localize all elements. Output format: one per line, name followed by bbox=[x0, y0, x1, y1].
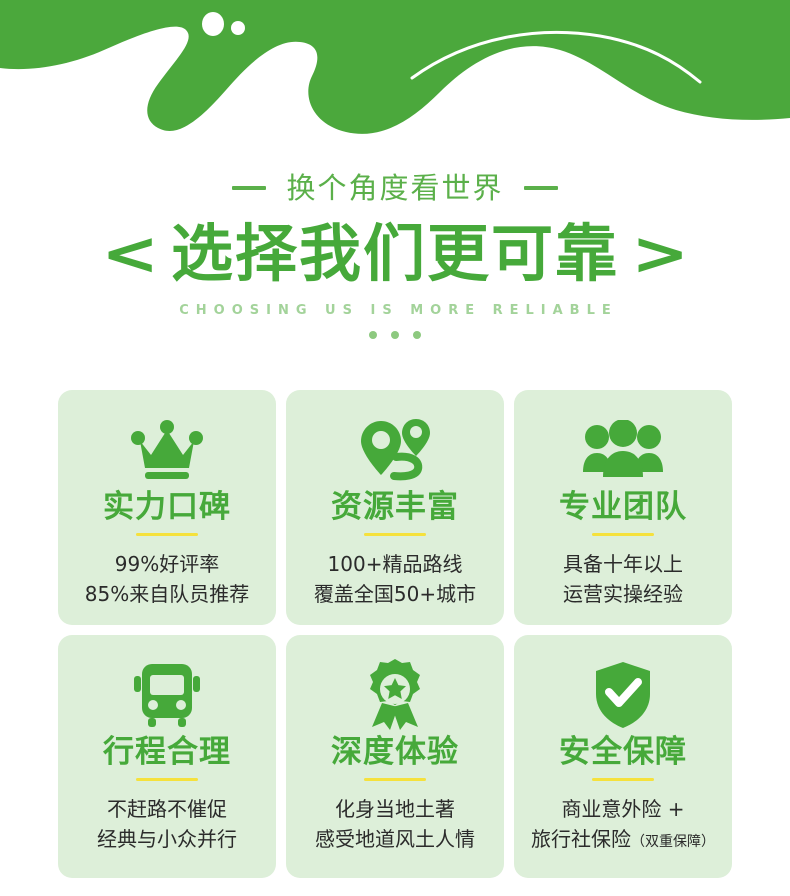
main-title-row: < 选择我们更可靠 > bbox=[0, 216, 790, 292]
left-bracket-icon: < bbox=[101, 224, 159, 284]
card-body-line: 化身当地土著 bbox=[315, 794, 475, 824]
bus-icon bbox=[132, 657, 202, 733]
card-body-line: 具备十年以上 bbox=[563, 549, 683, 579]
card-body-line: 不赶路不催促 bbox=[97, 794, 237, 824]
page-title: 选择我们更可靠 bbox=[171, 223, 619, 285]
people-group-icon bbox=[581, 412, 665, 488]
title-underline bbox=[364, 533, 426, 536]
dot-icon bbox=[369, 331, 377, 339]
card-body: 100+精品路线 覆盖全国50+城市 bbox=[314, 549, 476, 610]
bubble-dot-small bbox=[231, 21, 245, 35]
dot-icon bbox=[413, 331, 421, 339]
feature-card[interactable]: 资源丰富 100+精品路线 覆盖全国50+城市 bbox=[286, 390, 504, 625]
card-title: 安全保障 bbox=[559, 735, 687, 771]
title-underline bbox=[592, 778, 654, 781]
title-underline bbox=[136, 533, 198, 536]
headline-block: 换个角度看世界 < 选择我们更可靠 > CHOOSING US IS MORE … bbox=[0, 168, 790, 339]
card-body: 不赶路不催促 经典与小众并行 bbox=[97, 794, 237, 855]
crown-icon bbox=[129, 412, 205, 488]
card-title: 专业团队 bbox=[559, 490, 687, 526]
decorative-dots bbox=[0, 331, 790, 339]
tagline-dash-right bbox=[524, 186, 558, 190]
card-body-line: 商业意外险 + bbox=[531, 794, 715, 824]
right-bracket-icon: > bbox=[631, 224, 689, 284]
feature-card[interactable]: 深度体验 化身当地土著 感受地道风土人情 bbox=[286, 635, 504, 878]
card-title: 资源丰富 bbox=[331, 490, 459, 526]
feature-card[interactable]: 安全保障 商业意外险 + 旅行社保险（双重保障） bbox=[514, 635, 732, 878]
card-title: 实力口碑 bbox=[103, 490, 231, 526]
card-body: 商业意外险 + 旅行社保险（双重保障） bbox=[531, 794, 715, 855]
card-title: 深度体验 bbox=[331, 735, 459, 771]
tagline-text: 换个角度看世界 bbox=[286, 174, 503, 203]
dot-icon bbox=[391, 331, 399, 339]
card-body: 化身当地土著 感受地道风土人情 bbox=[315, 794, 475, 855]
header-wave-banner bbox=[0, 0, 790, 175]
title-underline bbox=[364, 778, 426, 781]
card-body-line: 99%好评率 bbox=[85, 549, 249, 579]
card-body: 具备十年以上 运营实操经验 bbox=[563, 549, 683, 610]
map-pin-route-icon bbox=[356, 412, 434, 488]
subtitle-english: CHOOSING US IS MORE RELIABLE bbox=[0, 304, 790, 317]
feature-card[interactable]: 行程合理 不赶路不催促 经典与小众并行 bbox=[58, 635, 276, 878]
card-body: 99%好评率 85%来自队员推荐 bbox=[85, 549, 249, 610]
feature-card[interactable]: 实力口碑 99%好评率 85%来自队员推荐 bbox=[58, 390, 276, 625]
card-title: 行程合理 bbox=[103, 735, 231, 771]
bubble-dot-large bbox=[202, 12, 224, 36]
card-body-line: 经典与小众并行 bbox=[97, 824, 237, 854]
card-body-line: 覆盖全国50+城市 bbox=[314, 579, 476, 609]
card-body-line: 运营实操经验 bbox=[563, 579, 683, 609]
title-underline bbox=[592, 533, 654, 536]
card-body-line: 100+精品路线 bbox=[314, 549, 476, 579]
card-body-note: （双重保障） bbox=[631, 834, 715, 850]
shield-check-icon bbox=[592, 657, 654, 733]
feature-card[interactable]: 专业团队 具备十年以上 运营实操经验 bbox=[514, 390, 732, 625]
card-body-line: 感受地道风土人情 bbox=[315, 824, 475, 854]
tagline-dash-left bbox=[232, 186, 266, 190]
tagline-row: 换个角度看世界 bbox=[0, 168, 790, 208]
feature-card-grid: 实力口碑 99%好评率 85%来自队员推荐 资源丰富 100+精品路线 覆盖全国… bbox=[58, 390, 732, 878]
card-body-line: 旅行社保险 bbox=[531, 827, 631, 851]
wave-green-shape bbox=[0, 0, 790, 134]
card-body-line: 85%来自队员推荐 bbox=[85, 579, 249, 609]
title-underline bbox=[136, 778, 198, 781]
card-body-line-with-note: 旅行社保险（双重保障） bbox=[531, 824, 715, 854]
star-medal-icon bbox=[362, 657, 428, 733]
